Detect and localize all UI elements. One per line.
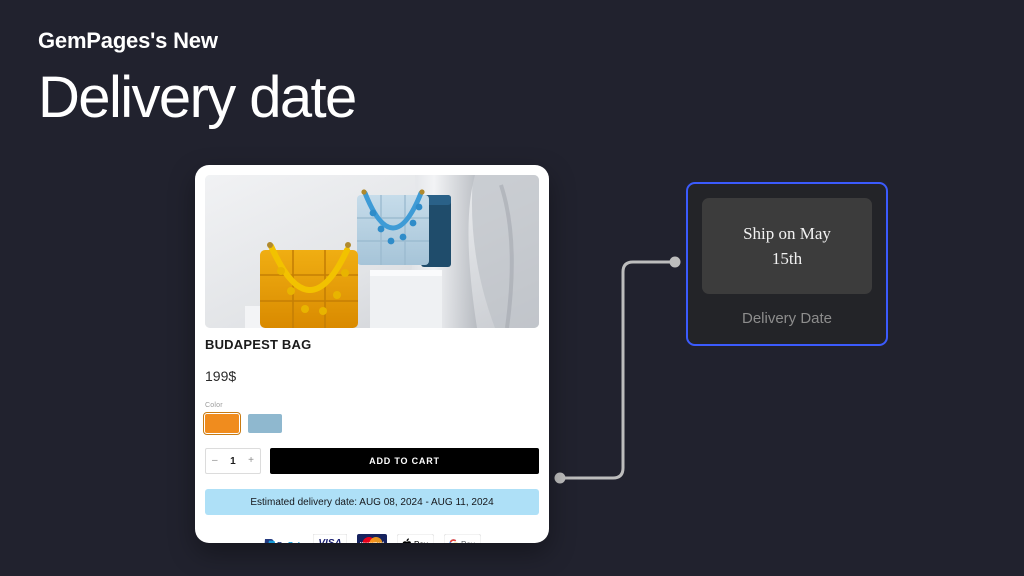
product-price: 199$ <box>205 368 539 384</box>
add-to-cart-button[interactable]: ADD TO CART <box>270 448 539 474</box>
purchase-row: – 1 + ADD TO CART <box>205 448 539 474</box>
color-swatch-light-blue[interactable] <box>248 414 282 433</box>
svg-text:VISA: VISA <box>318 538 341 543</box>
product-title: BUDAPEST BAG <box>205 337 539 352</box>
connector-start-dot <box>555 473 566 484</box>
connector-end-dot <box>670 257 681 268</box>
svg-text:Pay: Pay <box>414 540 428 543</box>
color-swatch-orange[interactable] <box>205 414 239 433</box>
svg-text:Pay: Pay <box>461 540 475 543</box>
estimated-delivery-banner: Estimated delivery date: AUG 08, 2024 - … <box>205 489 539 515</box>
quantity-value: 1 <box>230 456 236 467</box>
page-title: Delivery date <box>38 66 356 131</box>
paypal-icon: Pay Pal <box>263 534 303 543</box>
delivery-date-value-card: Ship on May 15th <box>702 198 872 294</box>
page-heading-block: GemPages's New Delivery date <box>38 28 356 131</box>
delivery-date-value: Ship on May 15th <box>727 221 847 272</box>
eyebrow-text: GemPages's New <box>38 28 356 54</box>
svg-text:MasterCard: MasterCard <box>360 541 384 543</box>
color-option-label: Color <box>205 402 539 409</box>
payment-methods-row: Pay Pal VISA MasterCard <box>205 534 539 543</box>
handbags-photo-illustration <box>205 175 539 328</box>
product-image <box>205 175 539 328</box>
quantity-stepper[interactable]: – 1 + <box>205 448 261 474</box>
delivery-date-label: Delivery Date <box>702 310 872 327</box>
product-card: BUDAPEST BAG 199$ Color – 1 + ADD TO CAR… <box>195 165 549 543</box>
visa-icon: VISA <box>313 534 347 543</box>
svg-text:Pal: Pal <box>288 541 300 544</box>
color-swatch-row <box>205 414 539 433</box>
mastercard-icon: MasterCard <box>357 534 387 543</box>
quantity-increment-button[interactable]: + <box>248 456 254 466</box>
estimated-delivery-text: Estimated delivery date: AUG 08, 2024 - … <box>250 497 493 508</box>
product-details: BUDAPEST BAG 199$ Color – 1 + ADD TO CAR… <box>205 337 539 543</box>
google-pay-icon: Pay <box>444 534 481 543</box>
delivery-date-callout-panel[interactable]: Ship on May 15th Delivery Date <box>686 182 888 346</box>
apple-pay-icon: Pay <box>397 534 434 543</box>
quantity-decrement-button[interactable]: – <box>212 456 218 466</box>
